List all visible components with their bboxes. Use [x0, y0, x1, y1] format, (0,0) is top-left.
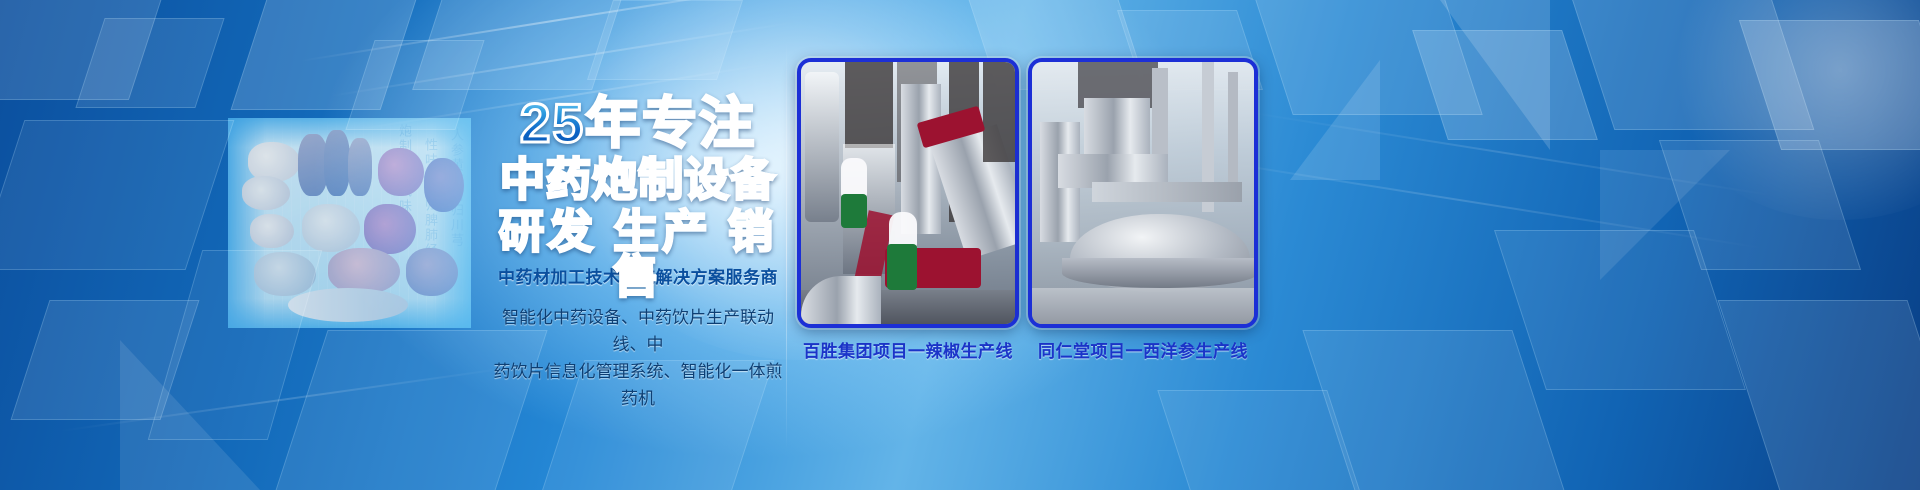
- deco-triangle: [120, 340, 260, 490]
- herb-photo-panel: 人参黄芪当归川芎 性味甘温归脾肺经 炮制得法气味醇正: [228, 118, 471, 328]
- herb-item: [250, 214, 294, 248]
- deco-rect: [0, 120, 234, 270]
- herb-item: [288, 288, 408, 322]
- project-caption-1: 百胜集团项目一辣椒生产线: [797, 337, 1019, 362]
- herb-item: [406, 248, 458, 296]
- worker-figure: [841, 158, 867, 198]
- herb-item: [328, 248, 400, 294]
- project-photo-1: [801, 62, 1015, 324]
- description-line-2: 药饮片信息化管理系统、智能化一体煎药机: [488, 358, 788, 412]
- headline-line-3: 研发 生产 销售: [488, 209, 788, 259]
- project-photo-frame-1: [797, 58, 1019, 328]
- project-photo-2: [1032, 62, 1254, 324]
- herb-item: [302, 204, 360, 252]
- herb-item: [254, 252, 316, 296]
- promo-banner: 人参黄芪当归川芎 性味甘温归脾肺经 炮制得法气味醇正 25年专注 中药炮制设备 …: [0, 0, 1920, 490]
- project-caption-2: 同仁堂项目一西洋参生产线: [1028, 337, 1258, 362]
- headline-line-1: 25年专注: [488, 96, 788, 154]
- worker-figure: [889, 212, 917, 248]
- worker-figure: [841, 194, 867, 228]
- photo-shape: [1032, 288, 1258, 328]
- photo-shape: [801, 276, 881, 328]
- project-photo-frame-2: [1028, 58, 1258, 328]
- herb-item: [348, 138, 372, 196]
- description-line-1: 智能化中药设备、中药饮片生产联动线、中: [488, 304, 788, 358]
- project-card-2[interactable]: 同仁堂项目一西洋参生产线: [1028, 58, 1258, 362]
- vessel-rim: [1062, 258, 1258, 288]
- photo-shape: [805, 72, 839, 222]
- photo-shape: [1092, 182, 1242, 202]
- photo-shape: [845, 62, 893, 148]
- headline-line-2: 中药炮制设备: [488, 157, 788, 207]
- herb-item: [242, 176, 290, 210]
- herb-item: [378, 148, 424, 196]
- worker-figure: [887, 244, 917, 290]
- photo-shape: [983, 62, 1017, 162]
- herb-item: [324, 130, 350, 196]
- herb-item: [424, 158, 464, 212]
- deco-triangle: [1440, 0, 1550, 150]
- deco-rect: [1718, 300, 1920, 490]
- project-card-1[interactable]: 百胜集团项目一辣椒生产线: [797, 58, 1019, 362]
- herb-item: [364, 204, 416, 254]
- banner-copy: 25年专注 中药炮制设备 研发 生产 销售 中药材加工技术系统解决方案服务商 智…: [488, 96, 788, 412]
